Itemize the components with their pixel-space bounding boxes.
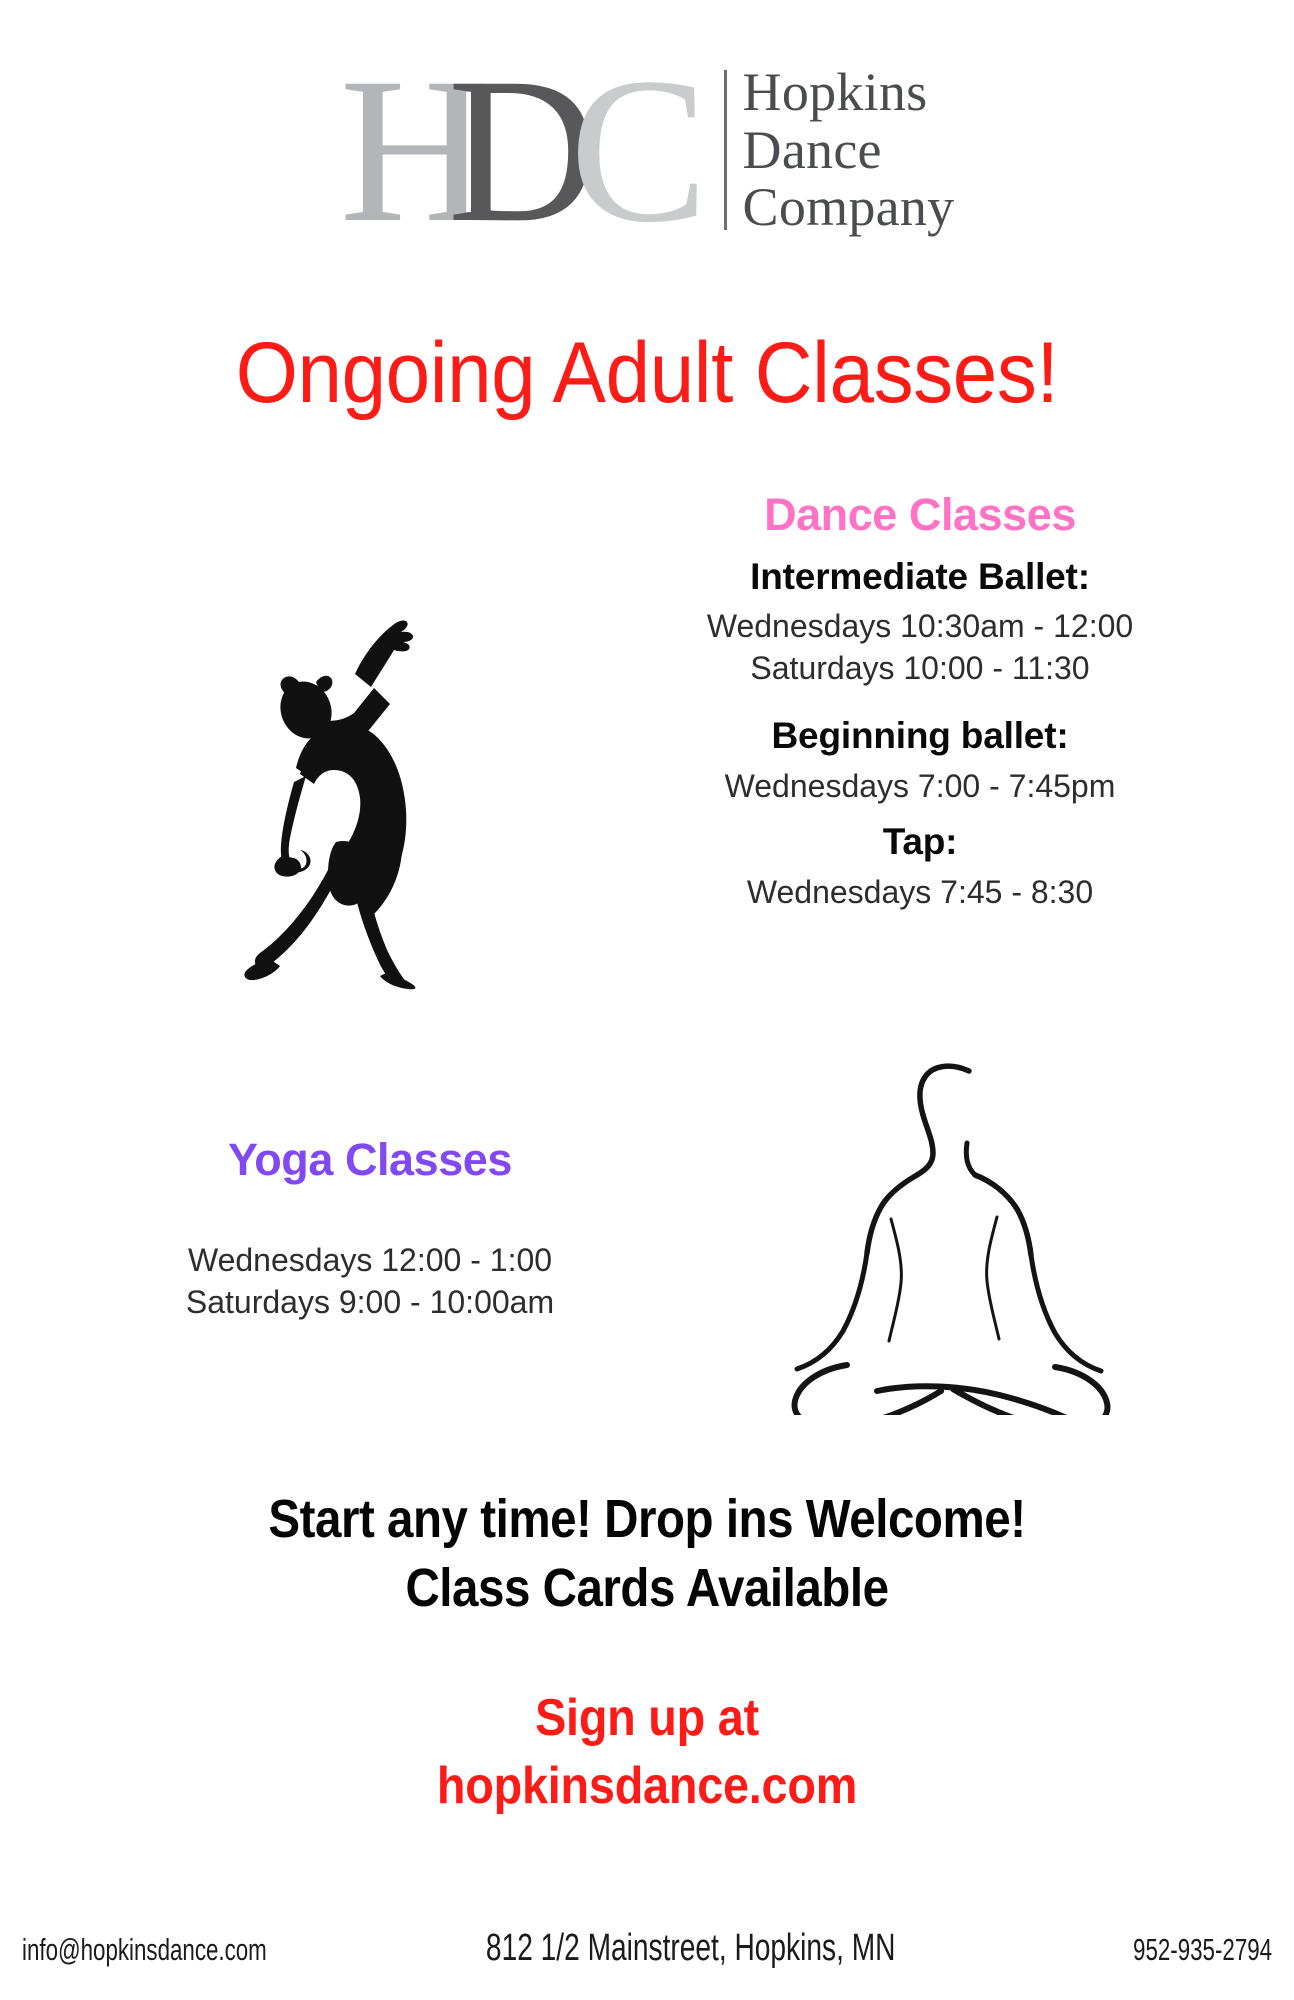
class-schedule-line: Wednesdays 7:00 - 7:45pm xyxy=(640,766,1200,808)
class-title: Intermediate Ballet: xyxy=(640,556,1200,599)
class-schedule-line: Wednesdays 7:45 - 8:30 xyxy=(640,872,1200,914)
class-schedule: Wednesdays 7:00 - 7:45pm xyxy=(640,766,1200,808)
yoga-classes-section: Yoga Classes Wednesdays 12:00 - 1:00 Sat… xyxy=(60,1135,680,1323)
class-title: Tap: xyxy=(640,821,1200,864)
cta-line-class-cards: Class Cards Available xyxy=(78,1554,1217,1623)
signup-label: Sign up at xyxy=(65,1685,1230,1753)
class-entry-beginning-ballet: Beginning ballet: Wednesdays 7:00 - 7:45… xyxy=(640,715,1200,807)
class-entry-tap: Tap: Wednesdays 7:45 - 8:30 xyxy=(640,821,1200,913)
class-entry-intermediate-ballet: Intermediate Ballet: Wednesdays 10:30am … xyxy=(640,556,1200,690)
class-title: Beginning ballet: xyxy=(640,715,1200,758)
logo-wordmark: Hopkins Dance Company xyxy=(743,62,955,237)
class-schedule-line: Wednesdays 10:30am - 12:00 xyxy=(640,606,1200,648)
page-title: Ongoing Adult Classes! xyxy=(45,330,1248,416)
lotus-meditation-figure-icon xyxy=(755,1045,1115,1415)
spacer xyxy=(640,807,1200,821)
spacer xyxy=(640,689,1200,715)
logo-divider xyxy=(724,70,727,230)
yoga-schedule: Wednesdays 12:00 - 1:00 Saturdays 9:00 -… xyxy=(60,1239,680,1323)
cta-line-dropins: Start any time! Drop ins Welcome! xyxy=(78,1485,1217,1554)
call-to-action: Start any time! Drop ins Welcome! Class … xyxy=(0,1485,1294,1623)
flyer-page: H D C Hopkins Dance Company Ongoing Adul… xyxy=(0,0,1294,2000)
class-schedule: Wednesdays 10:30am - 12:00 Saturdays 10:… xyxy=(640,606,1200,689)
company-logo: H D C Hopkins Dance Company xyxy=(0,62,1294,237)
logo-word-hopkins: Hopkins xyxy=(743,64,955,122)
hdc-monogram: H D C xyxy=(340,62,720,237)
yoga-section-heading: Yoga Classes xyxy=(60,1135,680,1185)
yoga-schedule-line: Wednesdays 12:00 - 1:00 xyxy=(60,1239,680,1281)
footer-phone[interactable]: 952-935-2794 xyxy=(1133,1932,1272,1968)
signup-callout[interactable]: Sign up at hopkinsdance.com xyxy=(0,1685,1294,1820)
logo-letter-c: C xyxy=(570,46,705,254)
dance-section-heading: Dance Classes xyxy=(640,490,1200,540)
footer-address: 812 1/2 Mainstreet, Hopkins, MN xyxy=(486,1927,895,1970)
dancer-silhouette-icon xyxy=(238,570,438,990)
logo-word-company: Company xyxy=(743,179,955,237)
dance-classes-section: Dance Classes Intermediate Ballet: Wedne… xyxy=(640,490,1200,914)
logo-word-dance: Dance xyxy=(743,122,955,180)
footer-contact-bar: info@hopkinsdance.com 812 1/2 Mainstreet… xyxy=(0,1927,1294,1970)
class-schedule-line: Saturdays 10:00 - 11:30 xyxy=(640,648,1200,690)
class-schedule: Wednesdays 7:45 - 8:30 xyxy=(640,872,1200,914)
footer-email[interactable]: info@hopkinsdance.com xyxy=(22,1932,267,1968)
yoga-schedule-line: Saturdays 9:00 - 10:00am xyxy=(60,1281,680,1323)
signup-website-link[interactable]: hopkinsdance.com xyxy=(65,1753,1230,1821)
